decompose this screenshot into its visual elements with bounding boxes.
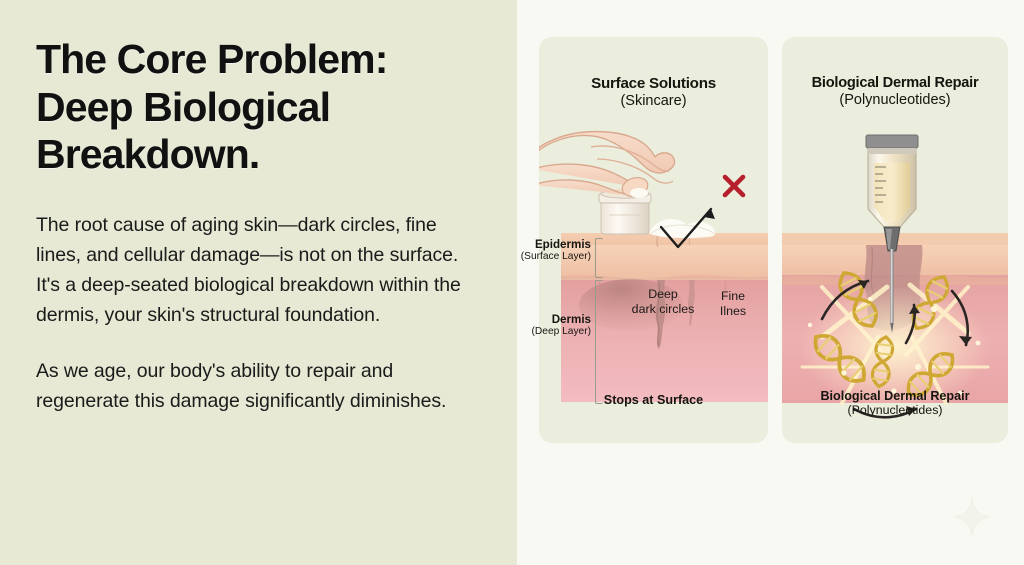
card-right-footnote-main: Biological Dermal Repair [782, 389, 1008, 403]
bracket-epidermis [595, 238, 603, 278]
sparkle-icon [952, 497, 992, 537]
red-x-icon [725, 177, 743, 195]
headline-line-2: Deep Biological [36, 84, 496, 132]
bracket-dermis [595, 280, 603, 404]
layer-label-dermis-qualifier: (Deep Layer) [513, 326, 591, 337]
text-panel: The Core Problem: Deep Biological Breakd… [0, 0, 517, 565]
layer-label-epidermis-qualifier: (Surface Layer) [513, 251, 591, 262]
annotation-dark-circles-line2: dark circles [632, 302, 695, 316]
layer-label-epidermis: Epidermis (Surface Layer) [513, 238, 591, 262]
annotation-fine-lines-line2: Ilnes [720, 304, 746, 318]
card-right-footnote-sub: (Polynucleotides) [782, 403, 1008, 417]
headline-line-1: The Core Problem: [36, 36, 496, 84]
headline-line-3: Breakdown. [36, 131, 496, 179]
annotation-fine-lines-line1: Fine [721, 289, 745, 303]
page-title: The Core Problem: Deep Biological Breakd… [36, 36, 496, 179]
layer-label-epidermis-name: Epidermis [513, 238, 591, 251]
annotation-dark-circles: Deep dark circles [621, 287, 705, 317]
slide-root: The Core Problem: Deep Biological Breakd… [0, 0, 1024, 565]
body-paragraph-2: As we age, our body's ability to repair … [36, 356, 482, 416]
diagram-panel: Surface Solutions (Skincare) [517, 0, 1024, 565]
dermal-repair-illustration [782, 37, 1008, 443]
annotation-dark-circles-line1: Deep [648, 287, 678, 301]
body-copy: The root cause of aging skin—dark circle… [36, 210, 482, 416]
card-right-footnote: Biological Dermal Repair (Polynucleotide… [782, 389, 1008, 417]
layer-label-dermis: Dermis (Deep Layer) [513, 313, 591, 337]
layer-label-dermis-name: Dermis [513, 313, 591, 326]
card-left-footnote: Stops at Surface [539, 393, 768, 407]
annotation-fine-lines: Fine Ilnes [707, 289, 759, 319]
body-paragraph-1: The root cause of aging skin—dark circle… [36, 210, 482, 330]
card-left-footnote-main: Stops at Surface [539, 393, 768, 407]
card-biological-dermal-repair: Biological Dermal Repair (Polynucleotide… [782, 37, 1008, 443]
